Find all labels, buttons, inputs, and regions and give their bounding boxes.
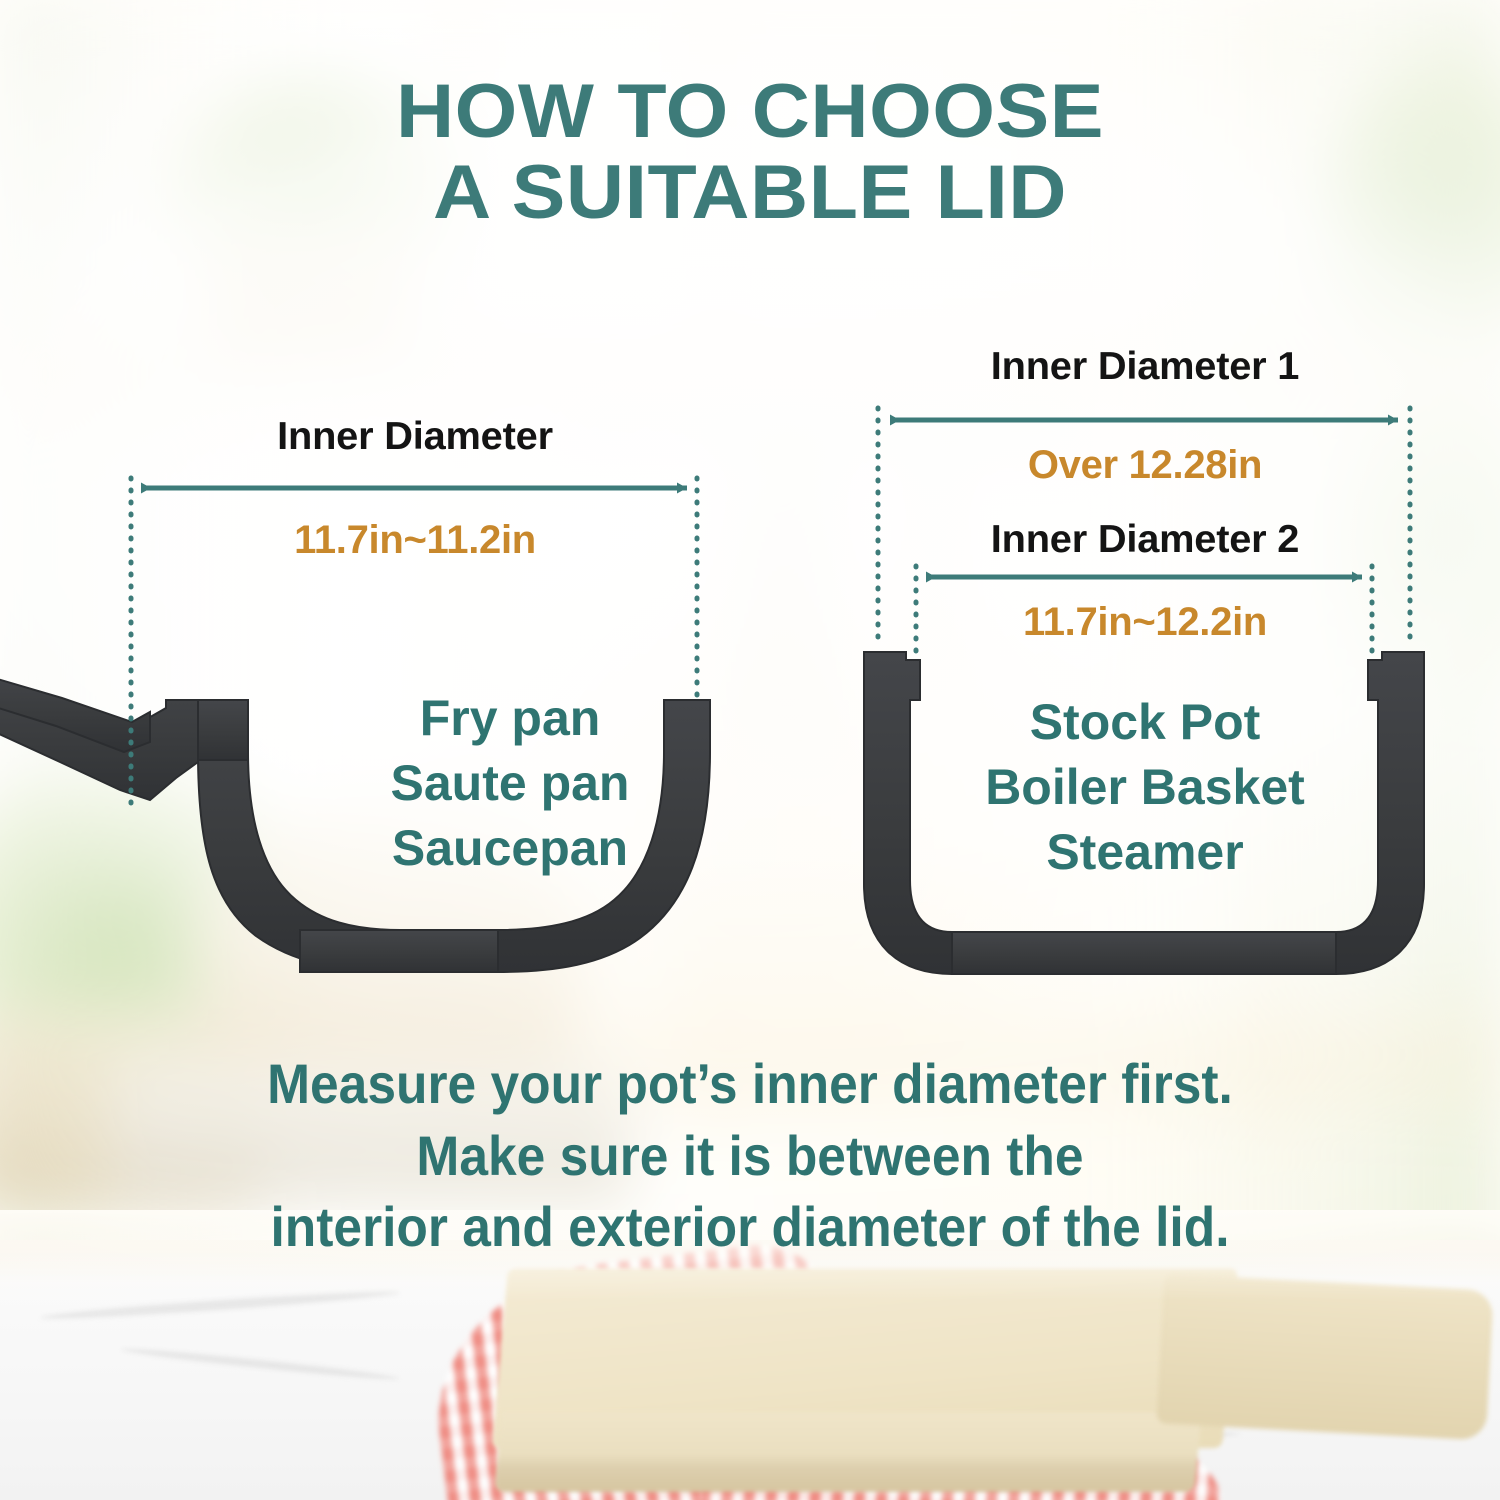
right-measurement-2: 11.7in~12.2in xyxy=(880,600,1410,645)
left-cookware-list: Fry pan Saute pan Saucepan xyxy=(190,686,830,881)
left-diameter-label: Inner Diameter xyxy=(0,415,838,459)
left-measurement: 11.7in~11.2in xyxy=(0,518,830,563)
right-diameter-label-1: Inner Diameter 1 xyxy=(875,345,1416,389)
right-measurement-1: Over 12.28in xyxy=(880,443,1410,488)
right-cookware-list: Stock Pot Boiler Basket Steamer xyxy=(895,690,1395,885)
right-diameter-label-2: Inner Diameter 2 xyxy=(875,518,1416,562)
instruction-caption: Measure your pot’s inner diameter first.… xyxy=(60,1048,1440,1263)
content-layer: HOW TO CHOOSE A SUITABLE LID xyxy=(0,0,1500,1500)
infographic-canvas: HOW TO CHOOSE A SUITABLE LID xyxy=(0,0,1500,1500)
